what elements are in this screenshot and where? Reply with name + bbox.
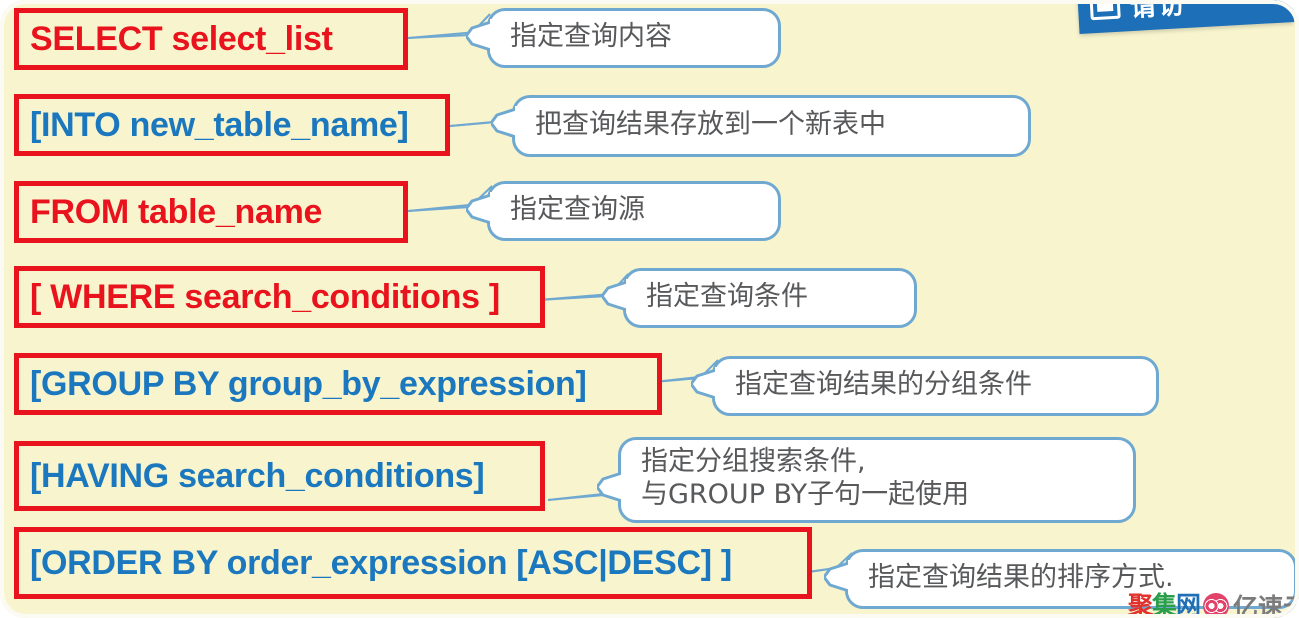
watermark-juji-char-1: 聚 (1128, 591, 1152, 618)
callout-having-note: 指定分组搜索条件,与GROUP BY子句一起使用 (618, 437, 1136, 523)
syntax-box-select: SELECT select_list (14, 8, 408, 70)
syntax-box-from: FROM table_name (14, 181, 408, 243)
banner-label: 请访 (1129, 0, 1187, 24)
syntax-box-where: [ WHERE search_conditions ] (14, 266, 545, 328)
callout-text-line: 指定分组搜索条件, (641, 446, 1117, 479)
callout-tail (491, 106, 521, 140)
syntax-label-select: SELECT select_list (30, 22, 333, 56)
callout-where-note: 指定查询条件 (623, 268, 917, 328)
syntax-box-order-by: [ORDER BY order_expression [ASC|DESC] ] (14, 527, 812, 599)
callout-tail (691, 367, 721, 401)
watermark-jujiwang: 聚集网 (1128, 586, 1200, 618)
callout-group-by-note: 指定查询结果的分组条件 (712, 356, 1159, 416)
callout-tail (466, 192, 496, 226)
syntax-label-from: FROM table_name (30, 195, 322, 229)
watermark-juji-char-3: 网 (1176, 591, 1200, 618)
callout-from-note: 指定查询源 (487, 181, 781, 241)
callout-tail (597, 470, 627, 504)
watermark-yisuyun: 亿速云 (1203, 588, 1299, 618)
syntax-label-order-by: [ORDER BY order_expression [ASC|DESC] ] (30, 546, 732, 580)
callout-tail (824, 560, 854, 594)
callout-text-line: 指定查询源 (510, 194, 762, 227)
callout-tail (602, 279, 632, 313)
callout-text-line: 把查询结果存放到一个新表中 (535, 109, 1012, 142)
presentation-slide: SELECT select_list[INTO new_table_name]F… (0, 0, 1299, 618)
watermark-juji-char-2: 集 (1152, 591, 1176, 618)
callout-text-line: 指定查询条件 (646, 281, 898, 314)
syntax-label-having: [HAVING search_conditions] (30, 459, 484, 493)
syntax-label-into: [INTO new_table_name] (30, 108, 409, 142)
syntax-box-group-by: [GROUP BY group_by_expression] (14, 353, 662, 415)
syntax-box-into: [INTO new_table_name] (14, 94, 450, 156)
callout-select-note: 指定查询内容 (487, 8, 781, 68)
screen-icon (1089, 0, 1120, 20)
callout-tail (466, 19, 496, 53)
callout-text-line: 指定查询内容 (510, 21, 762, 54)
corner-banner: 请访 (1077, 0, 1294, 34)
spiral-logo-icon (1203, 593, 1229, 618)
syntax-label-where: [ WHERE search_conditions ] (30, 280, 500, 314)
callout-text-line: 指定查询结果的分组条件 (735, 369, 1140, 402)
watermark-yisuyun-label: 亿速云 (1233, 588, 1299, 618)
callout-text-line: 与GROUP BY子句一起使用 (641, 479, 1117, 512)
callout-into-note: 把查询结果存放到一个新表中 (512, 95, 1031, 157)
syntax-label-group-by: [GROUP BY group_by_expression] (30, 367, 587, 401)
syntax-box-having: [HAVING search_conditions] (14, 441, 545, 511)
